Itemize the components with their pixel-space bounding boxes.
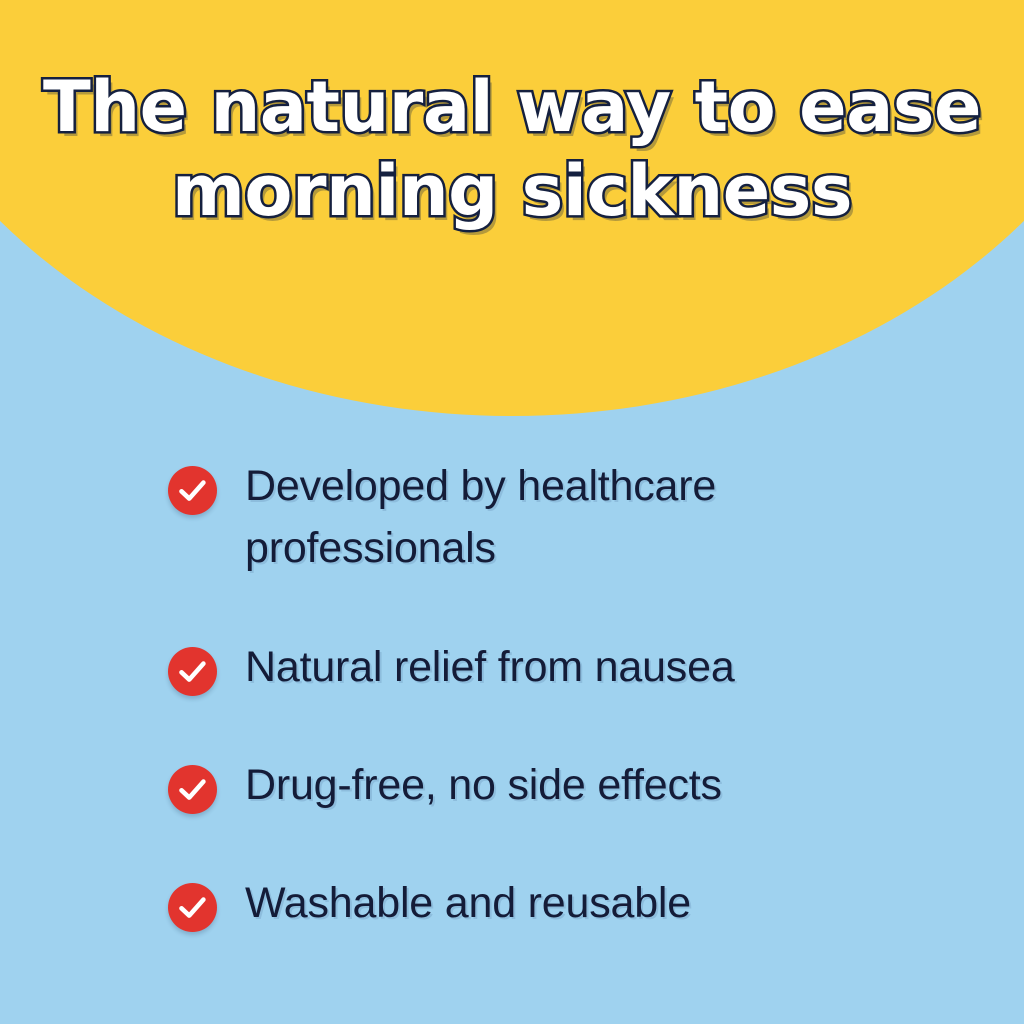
check-circle-icon — [168, 466, 217, 515]
benefits-list: Developed by healthcare professionals Na… — [168, 455, 958, 935]
list-item: Washable and reusable — [168, 872, 958, 934]
check-circle-icon — [168, 765, 217, 814]
list-item-label: Drug-free, no side effects — [245, 754, 958, 816]
headline-line-2: morning sickness — [0, 156, 1024, 226]
list-item-label: Natural relief from nausea — [245, 636, 958, 698]
list-item-label: Developed by healthcare professionals — [245, 455, 958, 580]
headline-line-1: The natural way to ease — [0, 72, 1024, 142]
list-item-label: Washable and reusable — [245, 872, 958, 934]
check-circle-icon — [168, 647, 217, 696]
headline: The natural way to ease morning sickness — [0, 72, 1024, 226]
check-circle-icon — [168, 883, 217, 932]
list-item: Drug-free, no side effects — [168, 754, 958, 816]
list-item: Natural relief from nausea — [168, 636, 958, 698]
promo-graphic: The natural way to ease morning sickness… — [0, 0, 1024, 1024]
list-item: Developed by healthcare professionals — [168, 455, 958, 580]
